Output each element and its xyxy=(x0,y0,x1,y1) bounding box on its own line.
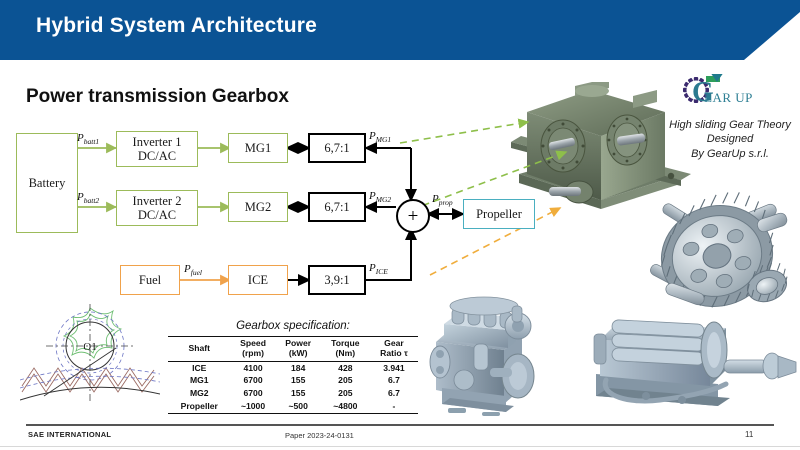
engine-render xyxy=(418,284,618,416)
block-propeller-label: Propeller xyxy=(476,207,522,221)
brand-caption-line2: Designed xyxy=(660,132,800,146)
block-inverter-2-label: Inverter 2 xyxy=(133,194,182,208)
block-fuel-label: Fuel xyxy=(139,273,161,287)
block-inverter-1[interactable]: Inverter 1 DC/AC xyxy=(116,131,198,167)
gear-center-label: O1 xyxy=(83,341,96,353)
spec-table-title: Gearbox specification: xyxy=(168,320,418,332)
block-mg2[interactable]: MG2 xyxy=(228,192,288,222)
summing-junction: + xyxy=(396,199,430,233)
brand-caption-line3: By GearUp s.r.l. xyxy=(660,147,800,161)
cell-shaft: Propeller xyxy=(168,400,231,413)
cell-speed: 4100 xyxy=(231,361,276,374)
label-p-prop: Pprop xyxy=(432,193,453,207)
table-row: ICE 4100 184 428 3.941 xyxy=(168,361,418,374)
block-gear-ratio-mg1[interactable]: 6,7:1 xyxy=(308,133,366,163)
label-p-ice-base: P xyxy=(369,262,376,274)
cell-speed: 6700 xyxy=(231,387,276,400)
footer-page-number: 11 xyxy=(745,430,753,439)
block-mg1-label: MG1 xyxy=(245,141,271,155)
label-p-ice-sub: ICE xyxy=(376,267,388,276)
label-p-mg2: PMG2 xyxy=(369,190,391,204)
cell-power: 155 xyxy=(276,387,321,400)
cell-gear-ratio: 6.7 xyxy=(370,374,418,387)
section-title: Power transmission Gearbox xyxy=(26,86,289,108)
block-ice[interactable]: ICE xyxy=(228,265,288,295)
gear-mesh-sketch: O1 xyxy=(20,300,160,408)
cell-shaft: MG1 xyxy=(168,374,231,387)
label-p-fuel: Pfuel xyxy=(184,263,202,277)
block-ice-label: ICE xyxy=(248,273,268,287)
table-row: MG1 6700 155 205 6.7 xyxy=(168,374,418,387)
label-p-mg1: PMG1 xyxy=(369,130,391,144)
table-header-row: Shaft Speed (rpm) Power (kW) Torque (Nm)… xyxy=(168,337,418,362)
slide-root: Hybrid System Architecture Power transmi… xyxy=(0,0,800,450)
block-mg2-label: MG2 xyxy=(245,200,271,214)
block-gear-ratio-mg2[interactable]: 6,7:1 xyxy=(308,192,366,222)
label-p-batt1-base: P xyxy=(77,132,84,144)
th-torque: Torque (Nm) xyxy=(321,337,370,362)
cell-power: 184 xyxy=(276,361,321,374)
label-p-batt1-sub: batt1 xyxy=(84,137,99,146)
label-p-ice: PICE xyxy=(369,262,388,276)
th-speed: Speed (rpm) xyxy=(231,337,276,362)
block-mg1[interactable]: MG1 xyxy=(228,133,288,163)
brand-caption: High sliding Gear Theory Designed By Gea… xyxy=(660,118,800,161)
gearup-logo-text: EAR UP xyxy=(704,90,753,106)
block-gear-ratio-mg2-label: 6,7:1 xyxy=(324,200,349,214)
block-gear-ratio-ice[interactable]: 3,9:1 xyxy=(308,265,366,295)
label-p-mg1-base: P xyxy=(369,130,376,142)
label-p-mg2-sub: MG2 xyxy=(376,195,391,204)
cell-shaft: ICE xyxy=(168,361,231,374)
block-battery-label: Battery xyxy=(29,176,66,190)
label-p-prop-base: P xyxy=(432,193,439,205)
block-battery[interactable]: Battery xyxy=(16,133,78,233)
summing-junction-symbol: + xyxy=(408,207,419,226)
footer-organization: SAE INTERNATIONAL xyxy=(28,430,111,439)
cell-torque: 428 xyxy=(321,361,370,374)
block-gear-ratio-ice-label: 3,9:1 xyxy=(324,273,349,287)
label-p-batt2-sub: batt2 xyxy=(84,196,99,205)
label-p-prop-sub: prop xyxy=(439,198,453,207)
footer-bottom-divider xyxy=(0,446,800,447)
transmission-render xyxy=(590,300,800,418)
th-shaft: Shaft xyxy=(168,337,231,362)
block-inverter-2[interactable]: Inverter 2 DC/AC xyxy=(116,190,198,226)
table-row: MG2 6700 155 205 6.7 xyxy=(168,387,418,400)
footer-divider xyxy=(26,424,774,426)
cell-torque: 205 xyxy=(321,387,370,400)
cell-speed: 6700 xyxy=(231,374,276,387)
block-fuel[interactable]: Fuel xyxy=(120,265,180,295)
brand-caption-line1: High sliding Gear Theory xyxy=(660,118,800,132)
cell-torque: 205 xyxy=(321,374,370,387)
block-propeller[interactable]: Propeller xyxy=(463,199,535,229)
block-inverter-2-sublabel: DC/AC xyxy=(138,208,176,222)
cell-shaft: MG2 xyxy=(168,387,231,400)
cell-gear-ratio: 3.941 xyxy=(370,361,418,374)
block-inverter-1-sublabel: DC/AC xyxy=(138,149,176,163)
th-power: Power (kW) xyxy=(276,337,321,362)
block-inverter-1-label: Inverter 1 xyxy=(133,135,182,149)
label-p-batt2-base: P xyxy=(77,191,84,203)
block-gear-ratio-mg1-label: 6,7:1 xyxy=(324,141,349,155)
cell-speed: ~1000 xyxy=(231,400,276,413)
cell-gear-ratio: - xyxy=(370,400,418,413)
label-p-batt1: Pbatt1 xyxy=(77,132,99,146)
cell-gear-ratio: 6.7 xyxy=(370,387,418,400)
label-p-fuel-sub: fuel xyxy=(191,268,202,277)
th-gear-ratio: Gear Ratio τ xyxy=(370,337,418,362)
label-p-fuel-base: P xyxy=(184,263,191,275)
page-title: Hybrid System Architecture xyxy=(36,14,317,38)
cell-power: ~500 xyxy=(276,400,321,413)
label-p-mg2-base: P xyxy=(369,190,376,202)
footer-paper-id: Paper 2023-24-0131 xyxy=(285,431,354,440)
cell-torque: ~4800 xyxy=(321,400,370,413)
label-p-mg1-sub: MG1 xyxy=(376,135,391,144)
cell-power: 155 xyxy=(276,374,321,387)
table-row: Propeller ~1000 ~500 ~4800 - xyxy=(168,400,418,413)
label-p-batt2: Pbatt2 xyxy=(77,191,99,205)
gearbox-spec-table: Shaft Speed (rpm) Power (kW) Torque (Nm)… xyxy=(168,336,418,414)
